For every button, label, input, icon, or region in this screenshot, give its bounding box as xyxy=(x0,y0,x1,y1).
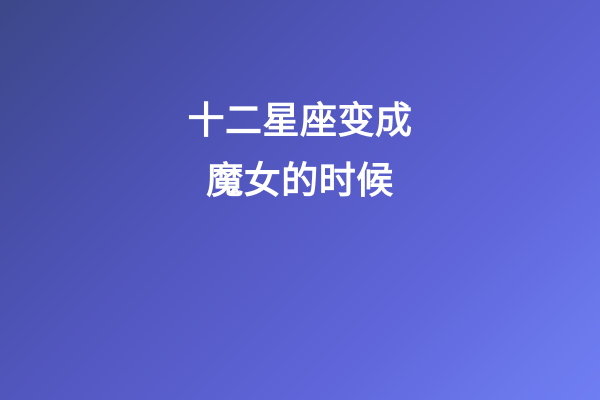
title-line-2: 魔女的时候 xyxy=(206,151,394,211)
title-line-1: 十二星座变成 xyxy=(188,91,413,151)
title-block: 十二星座变成 魔女的时候 xyxy=(0,0,600,400)
gradient-title-card: 十二星座变成 魔女的时候 xyxy=(0,0,600,400)
